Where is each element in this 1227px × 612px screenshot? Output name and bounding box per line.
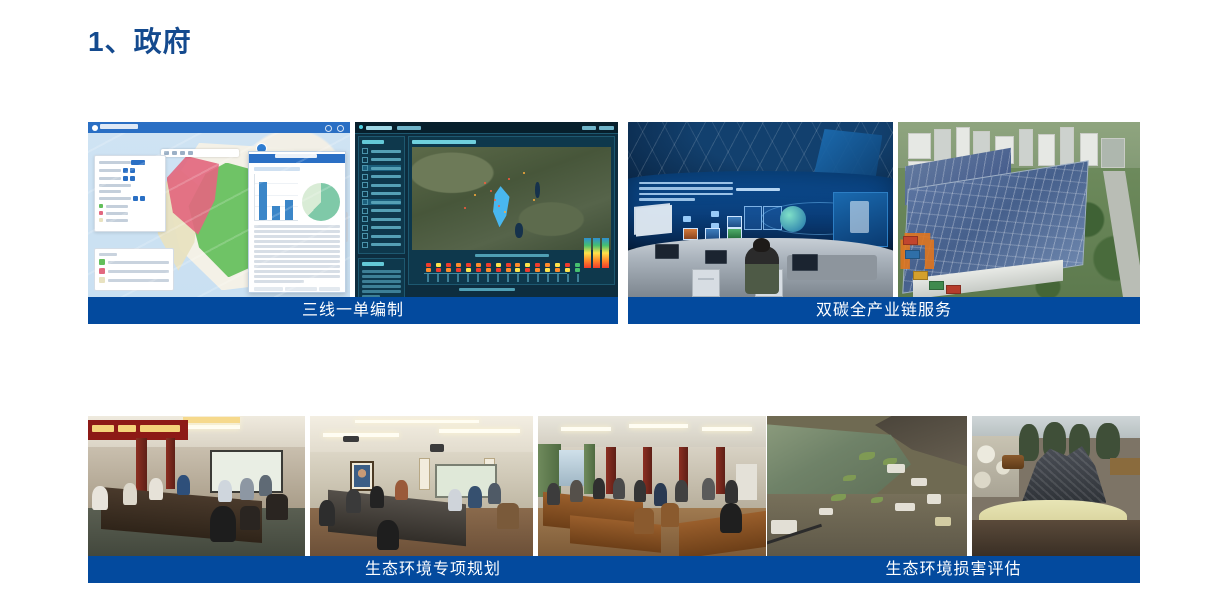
header-home-link[interactable]	[582, 126, 596, 130]
attendee	[149, 478, 163, 500]
water-environment-monitoring-system[interactable]	[355, 122, 618, 297]
attendee	[210, 506, 236, 542]
legend-entry	[99, 277, 169, 283]
bar	[259, 182, 267, 220]
slide-canvas: 1、政府	[0, 0, 1227, 612]
industrial-slag-waste-site[interactable]	[972, 416, 1140, 556]
sidebar-checkbox-item[interactable]	[362, 208, 401, 214]
wall-document-stack	[634, 203, 670, 234]
rusted-drum	[1002, 455, 1024, 469]
building-block	[1038, 134, 1055, 166]
ceiling-projector	[343, 436, 359, 442]
dump-truck	[1110, 458, 1140, 475]
sidebar-checkbox-item[interactable]	[362, 242, 401, 248]
bar-chart	[254, 174, 298, 221]
wall-portrait	[350, 461, 374, 491]
floating-trash	[911, 478, 927, 486]
header-user-link[interactable]	[599, 126, 614, 130]
popup-title-text	[275, 154, 317, 158]
sidebar-checkbox-item[interactable]	[362, 216, 401, 222]
building-block	[1019, 129, 1033, 166]
shipping-container	[905, 250, 920, 259]
popup-header	[249, 154, 345, 163]
attendee	[177, 475, 190, 495]
map-search-toolbar[interactable]	[161, 149, 239, 157]
legend-entry	[99, 259, 169, 265]
layer-item[interactable]	[99, 211, 161, 215]
layer-item[interactable]	[99, 184, 161, 187]
main-panel-title	[412, 140, 476, 144]
reservoir-waterbody	[535, 182, 540, 198]
figure-caption: 生态环境损害评估	[767, 556, 1140, 583]
photo-strip	[88, 416, 778, 556]
map-legend	[94, 248, 174, 291]
sidebar-checkbox-item[interactable]	[362, 191, 401, 197]
meeting-room-portrait-scrolls[interactable]	[310, 416, 533, 556]
photo-strip	[628, 122, 1140, 297]
oil-stained-ground	[972, 520, 1140, 556]
layer-item[interactable]	[99, 218, 161, 222]
attendee	[123, 483, 137, 505]
chair	[240, 506, 260, 530]
attendee	[92, 486, 108, 510]
seated-operator	[745, 246, 779, 294]
system-title-text	[366, 126, 392, 130]
desk-cabinet	[692, 269, 720, 297]
settings-gear-icon[interactable]	[337, 125, 344, 132]
layer-group-header[interactable]	[99, 196, 161, 201]
app-header	[88, 122, 350, 133]
layer-checkbox-list[interactable]	[358, 136, 405, 254]
building-block	[908, 133, 932, 160]
legend-entry	[99, 268, 169, 274]
chair	[497, 503, 519, 529]
floating-trash	[819, 508, 833, 515]
floating-trash	[887, 464, 905, 473]
layer-item[interactable]	[99, 190, 161, 193]
popup-description-text	[254, 225, 340, 283]
satellite-map[interactable]	[412, 147, 611, 250]
attendee	[570, 480, 583, 502]
app-logo-icon	[92, 125, 98, 131]
attendee	[377, 520, 399, 550]
left-sidebar[interactable]	[358, 136, 405, 285]
tree	[1096, 423, 1120, 459]
color-scale-legend	[584, 238, 609, 268]
figure-group-dual-carbon-service: 双碳全产业链服务	[628, 122, 1140, 324]
monitor	[705, 250, 727, 264]
floating-trash	[771, 520, 797, 534]
page-title: 1、政府	[88, 20, 192, 60]
attendee	[259, 475, 272, 496]
figure-caption: 双碳全产业链服务	[628, 297, 1140, 324]
note-title	[362, 262, 384, 266]
measure-icon[interactable]	[172, 151, 177, 155]
photo-strip	[88, 122, 618, 297]
figure-group-eco-special-plan: 生态环境专项规划	[88, 416, 778, 583]
air-conditioner	[736, 464, 757, 500]
gis-three-lines-one-list-dashboard[interactable]	[88, 122, 350, 297]
bar	[285, 200, 293, 220]
sidebar-section-title	[362, 140, 384, 144]
layer-tree-header	[99, 160, 161, 165]
user-icon[interactable]	[325, 125, 332, 132]
building-block	[1101, 138, 1125, 168]
attendee	[395, 480, 408, 500]
shipping-container	[946, 285, 961, 294]
floating-trash	[927, 494, 941, 504]
bar	[272, 206, 280, 220]
photo-strip	[767, 416, 1140, 556]
pie-chart	[302, 183, 340, 221]
chair	[266, 494, 288, 520]
system-breadcrumb-text	[397, 126, 421, 130]
monitor	[792, 254, 818, 271]
attendee	[634, 480, 646, 502]
attendee	[319, 500, 335, 526]
sidebar-checkbox-item[interactable]	[362, 233, 401, 239]
layer-item[interactable]	[99, 176, 161, 181]
sidebar-checkbox-item-selected[interactable]	[362, 199, 401, 205]
attendee	[468, 486, 482, 508]
sidebar-checkbox-item[interactable]	[362, 182, 401, 188]
shipping-container	[913, 271, 928, 280]
ceiling-projector	[430, 444, 444, 452]
popup-charts	[249, 173, 345, 221]
chair	[661, 503, 679, 527]
meeting-room-red-banner[interactable]	[88, 416, 305, 556]
layer-tree-panel[interactable]	[94, 155, 166, 232]
calligraphy-scroll	[419, 458, 430, 490]
layer-item[interactable]	[99, 168, 161, 173]
attendee	[547, 483, 560, 505]
wall-section-title	[736, 188, 780, 191]
building-block	[934, 129, 951, 163]
aerial-rooftop-solar-farm[interactable]	[898, 122, 1140, 297]
popup-subtitle	[254, 167, 300, 171]
map-caption-text	[475, 254, 549, 257]
map-canvas[interactable]	[88, 133, 350, 297]
reservoir-waterbody	[515, 223, 523, 237]
shipping-container	[929, 281, 944, 290]
system-header	[355, 122, 618, 134]
attendee	[346, 489, 361, 513]
attendee	[720, 503, 742, 533]
attendee	[240, 478, 254, 500]
monitor	[655, 244, 679, 259]
chair	[634, 508, 654, 534]
side-wall-display	[833, 192, 888, 247]
sidebar-checkbox-item-selected[interactable]	[362, 165, 401, 171]
figure-group-eco-damage-assessment: 生态环境损害评估	[767, 416, 1140, 583]
figure-group-three-lines-one-list: 三线一单编制	[88, 122, 618, 324]
draw-icon[interactable]	[188, 151, 193, 155]
main-panel	[408, 136, 615, 285]
sidebar-checkbox-item[interactable]	[362, 157, 401, 163]
attendee	[725, 480, 738, 503]
feature-info-popup[interactable]	[248, 151, 346, 293]
attendee	[702, 478, 715, 500]
floating-trash	[895, 503, 915, 511]
figure-caption: 生态环境专项规划	[88, 556, 778, 583]
floating-trash	[935, 517, 951, 526]
attendee	[370, 486, 384, 508]
attendee	[448, 489, 462, 511]
attendee	[488, 483, 501, 504]
control-room-led-wall[interactable]	[628, 122, 893, 297]
sidebar-checkbox-item[interactable]	[362, 148, 401, 154]
system-footer	[355, 278, 618, 296]
attendee	[675, 480, 688, 502]
layer-tree-badge	[131, 160, 145, 165]
table-row	[254, 287, 340, 291]
shipping-container	[903, 236, 918, 245]
popup-attribute-table	[254, 287, 340, 294]
figure-caption: 三线一单编制	[88, 297, 618, 324]
lake-waterbody	[492, 186, 510, 227]
event-banner	[88, 420, 188, 440]
app-title-text	[100, 124, 138, 129]
attendee	[218, 480, 232, 502]
attendee	[593, 478, 605, 499]
layer-tree-title	[99, 161, 131, 164]
system-logo-icon	[359, 125, 363, 129]
sidebar-checkbox-item[interactable]	[362, 174, 401, 180]
layer-item[interactable]	[99, 204, 161, 208]
attendee	[613, 478, 625, 499]
building-block	[1060, 127, 1074, 166]
legend-title	[99, 253, 169, 256]
meeting-room-wooden-tables[interactable]	[538, 416, 766, 556]
polluted-river-channel[interactable]	[767, 416, 967, 556]
layers-icon[interactable]	[180, 151, 185, 155]
sidebar-checkbox-item[interactable]	[362, 225, 401, 231]
wall-headline-text	[639, 182, 733, 204]
